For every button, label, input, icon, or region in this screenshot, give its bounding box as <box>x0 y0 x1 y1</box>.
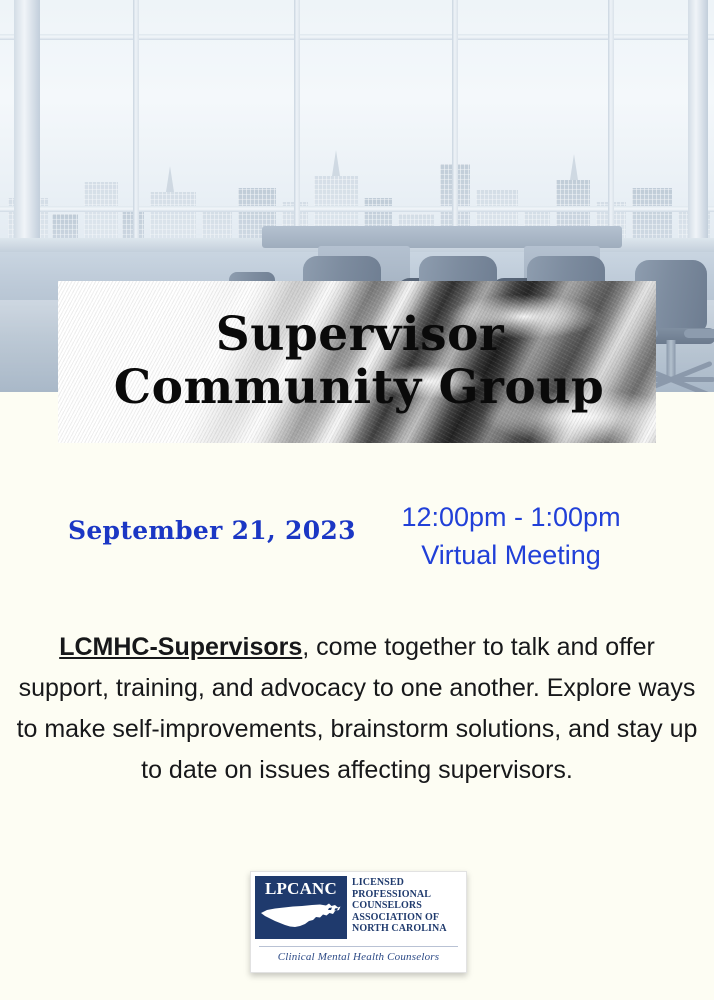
event-date: September 21, 2023 <box>68 516 356 545</box>
logo-tagline: Clinical Mental Health Counselors <box>251 951 466 963</box>
event-location: Virtual Meeting <box>380 536 642 574</box>
audience-lead: LCMHC-Supervisors <box>59 633 302 661</box>
logo-acronym: LPCANC <box>255 879 347 899</box>
logo-name-line-2: PROFESSIONAL <box>352 889 447 901</box>
title-line-1: Supervisor <box>216 309 504 362</box>
event-time-block: 12:00pm - 1:00pm Virtual Meeting <box>380 498 642 575</box>
logo-name-line-4: ASSOCIATION OF <box>352 912 447 924</box>
title-banner: Supervisor Community Group <box>58 281 656 443</box>
logo-divider <box>259 946 458 947</box>
event-meta-row: September 21, 2023 12:00pm - 1:00pm Virt… <box>0 492 714 582</box>
logo-organization-name: LICENSED PROFESSIONAL COUNSELORS ASSOCIA… <box>352 877 447 935</box>
logo-top-row: LPCANC LICENSED PROFESSIONAL COUNSELORS … <box>251 872 466 942</box>
title-line-2: Community Group <box>114 362 605 415</box>
logo-name-line-3: COUNSELORS <box>352 900 447 912</box>
window-mullion-horizontal <box>0 34 714 40</box>
lpcanc-badge: LPCANC <box>255 876 347 939</box>
event-time: 12:00pm - 1:00pm <box>380 498 642 536</box>
event-description: LCMHC-Supervisors, come together to talk… <box>16 627 698 791</box>
north-carolina-map-icon <box>260 900 342 934</box>
lpcanc-logo: LPCANC LICENSED PROFESSIONAL COUNSELORS … <box>250 871 467 973</box>
logo-name-line-5: NORTH CAROLINA <box>352 923 447 935</box>
flyer-page: Supervisor Community Group September 21,… <box>0 0 714 1000</box>
window-mullion-horizontal <box>0 206 714 212</box>
logo-name-line-1: LICENSED <box>352 877 447 889</box>
page-title: Supervisor Community Group <box>58 281 656 443</box>
